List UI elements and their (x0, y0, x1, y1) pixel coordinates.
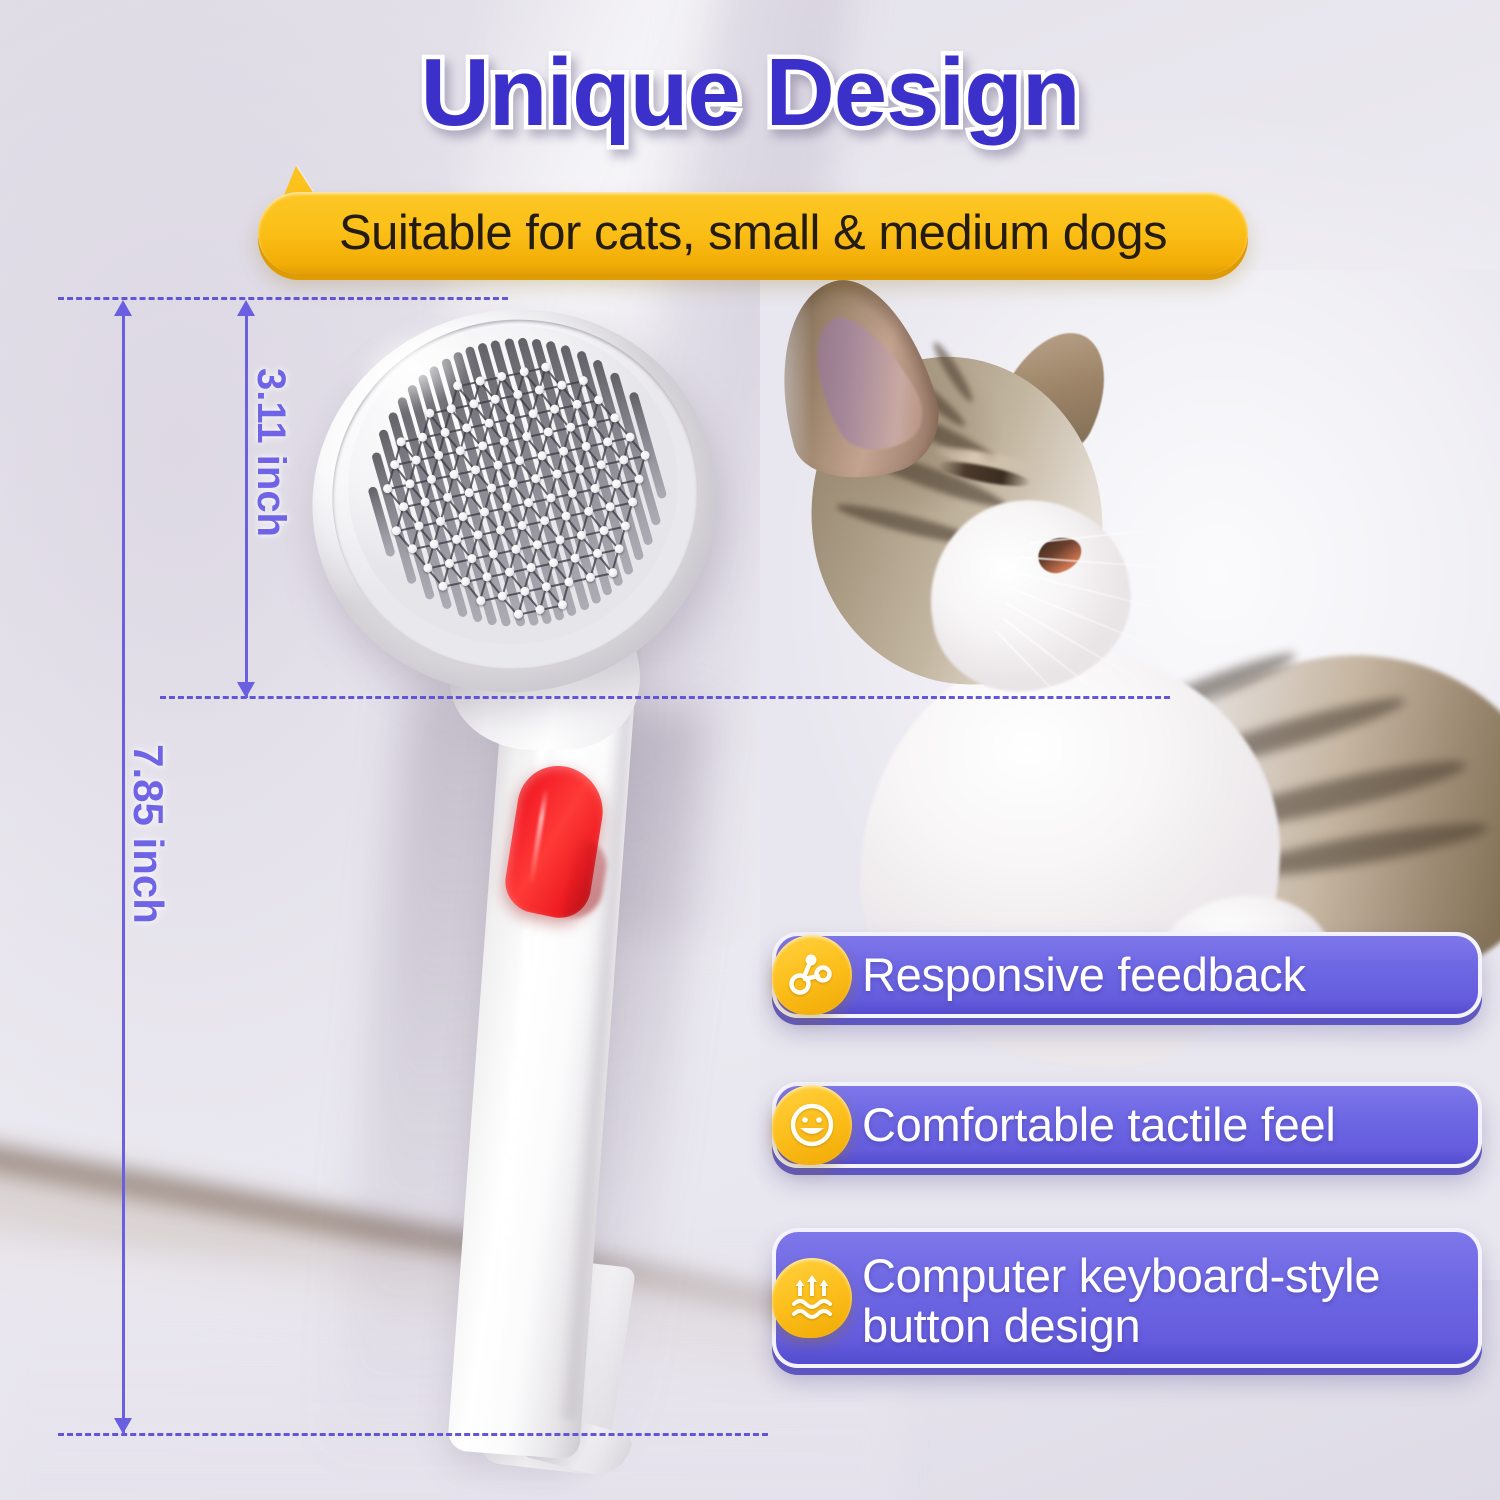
bristle-pin (585, 572, 596, 583)
dimension-arrow-total-up (114, 300, 132, 316)
bristle-pin (607, 567, 618, 578)
product-brush (250, 280, 810, 1460)
feature-item-responsive-feedback[interactable]: Responsive feedback (772, 932, 1482, 1018)
bristle-pin (536, 450, 547, 461)
dimension-label-head: 3.11 inch (248, 368, 293, 537)
bristle-pin (466, 553, 477, 564)
bristle-pin (535, 604, 546, 615)
bristle-pin (519, 586, 530, 597)
dimension-label-total: 7.85 inch (124, 744, 172, 924)
feature-item-comfortable-tactile-feel[interactable]: Comfortable tactile feel (772, 1082, 1482, 1168)
feature-bubble[interactable]: Responsive feedback (772, 932, 1482, 1018)
infographic-canvas: 3.11 inch 7.85 inch Unique Design Suitab… (0, 0, 1500, 1500)
bristle-pin (483, 417, 494, 428)
bristle-pin (614, 544, 625, 555)
bristle-pin (492, 459, 503, 470)
bristle-pin (527, 408, 538, 419)
bristle-pin (448, 469, 459, 480)
bristle-pin (580, 441, 591, 452)
bristle-pin (624, 431, 635, 442)
dimension-guide-bottom (58, 1433, 768, 1436)
bristle-pin (457, 511, 468, 522)
bristle-pin (513, 609, 524, 620)
bristle-pin (438, 581, 449, 592)
feature-label: Comfortable tactile feel (862, 1100, 1335, 1150)
bristle-pin (422, 562, 433, 573)
bristle-pin (510, 544, 521, 555)
page-title: Unique Design (0, 38, 1500, 148)
subtitle-text: Suitable for cats, small & medium dogs (339, 205, 1167, 261)
bristle-pin (557, 600, 568, 611)
bristle-pin (554, 534, 565, 545)
dimension-arrow-head-up (237, 300, 255, 316)
bristle-pin (545, 492, 556, 503)
bristle-pin (501, 502, 512, 513)
feature-bubble[interactable]: Computer keyboard-style button design (772, 1228, 1482, 1368)
smiley-face-icon (772, 1085, 852, 1165)
dimension-arrow-total-down (114, 1418, 132, 1434)
share-nodes-icon (772, 935, 852, 1015)
bristle-pin (571, 399, 582, 410)
bristle-pin (404, 478, 415, 489)
bristle-pin (413, 520, 424, 531)
feature-bubble[interactable]: Comfortable tactile feel (772, 1082, 1482, 1168)
dimension-guide-middle (160, 696, 1170, 699)
feature-label: Responsive feedback (862, 950, 1306, 1000)
bristle-pin (598, 525, 609, 536)
subtitle-bubble: Suitable for cats, small & medium dogs (258, 192, 1248, 274)
airflow-waves-icon (772, 1258, 852, 1338)
dimension-arrow-head-down (237, 682, 255, 698)
bristle-pin (620, 520, 631, 531)
bristle-pin (633, 473, 644, 484)
bristle-pin (627, 497, 638, 508)
bristle-pin (563, 576, 574, 587)
feature-item-keyboard-style-button[interactable]: Computer keyboard-style button design (772, 1228, 1482, 1368)
bristle-pin (475, 595, 486, 606)
bristle-pin (640, 450, 651, 461)
feature-label: Computer keyboard-style button design (862, 1251, 1452, 1352)
bristle-pin (589, 483, 600, 494)
